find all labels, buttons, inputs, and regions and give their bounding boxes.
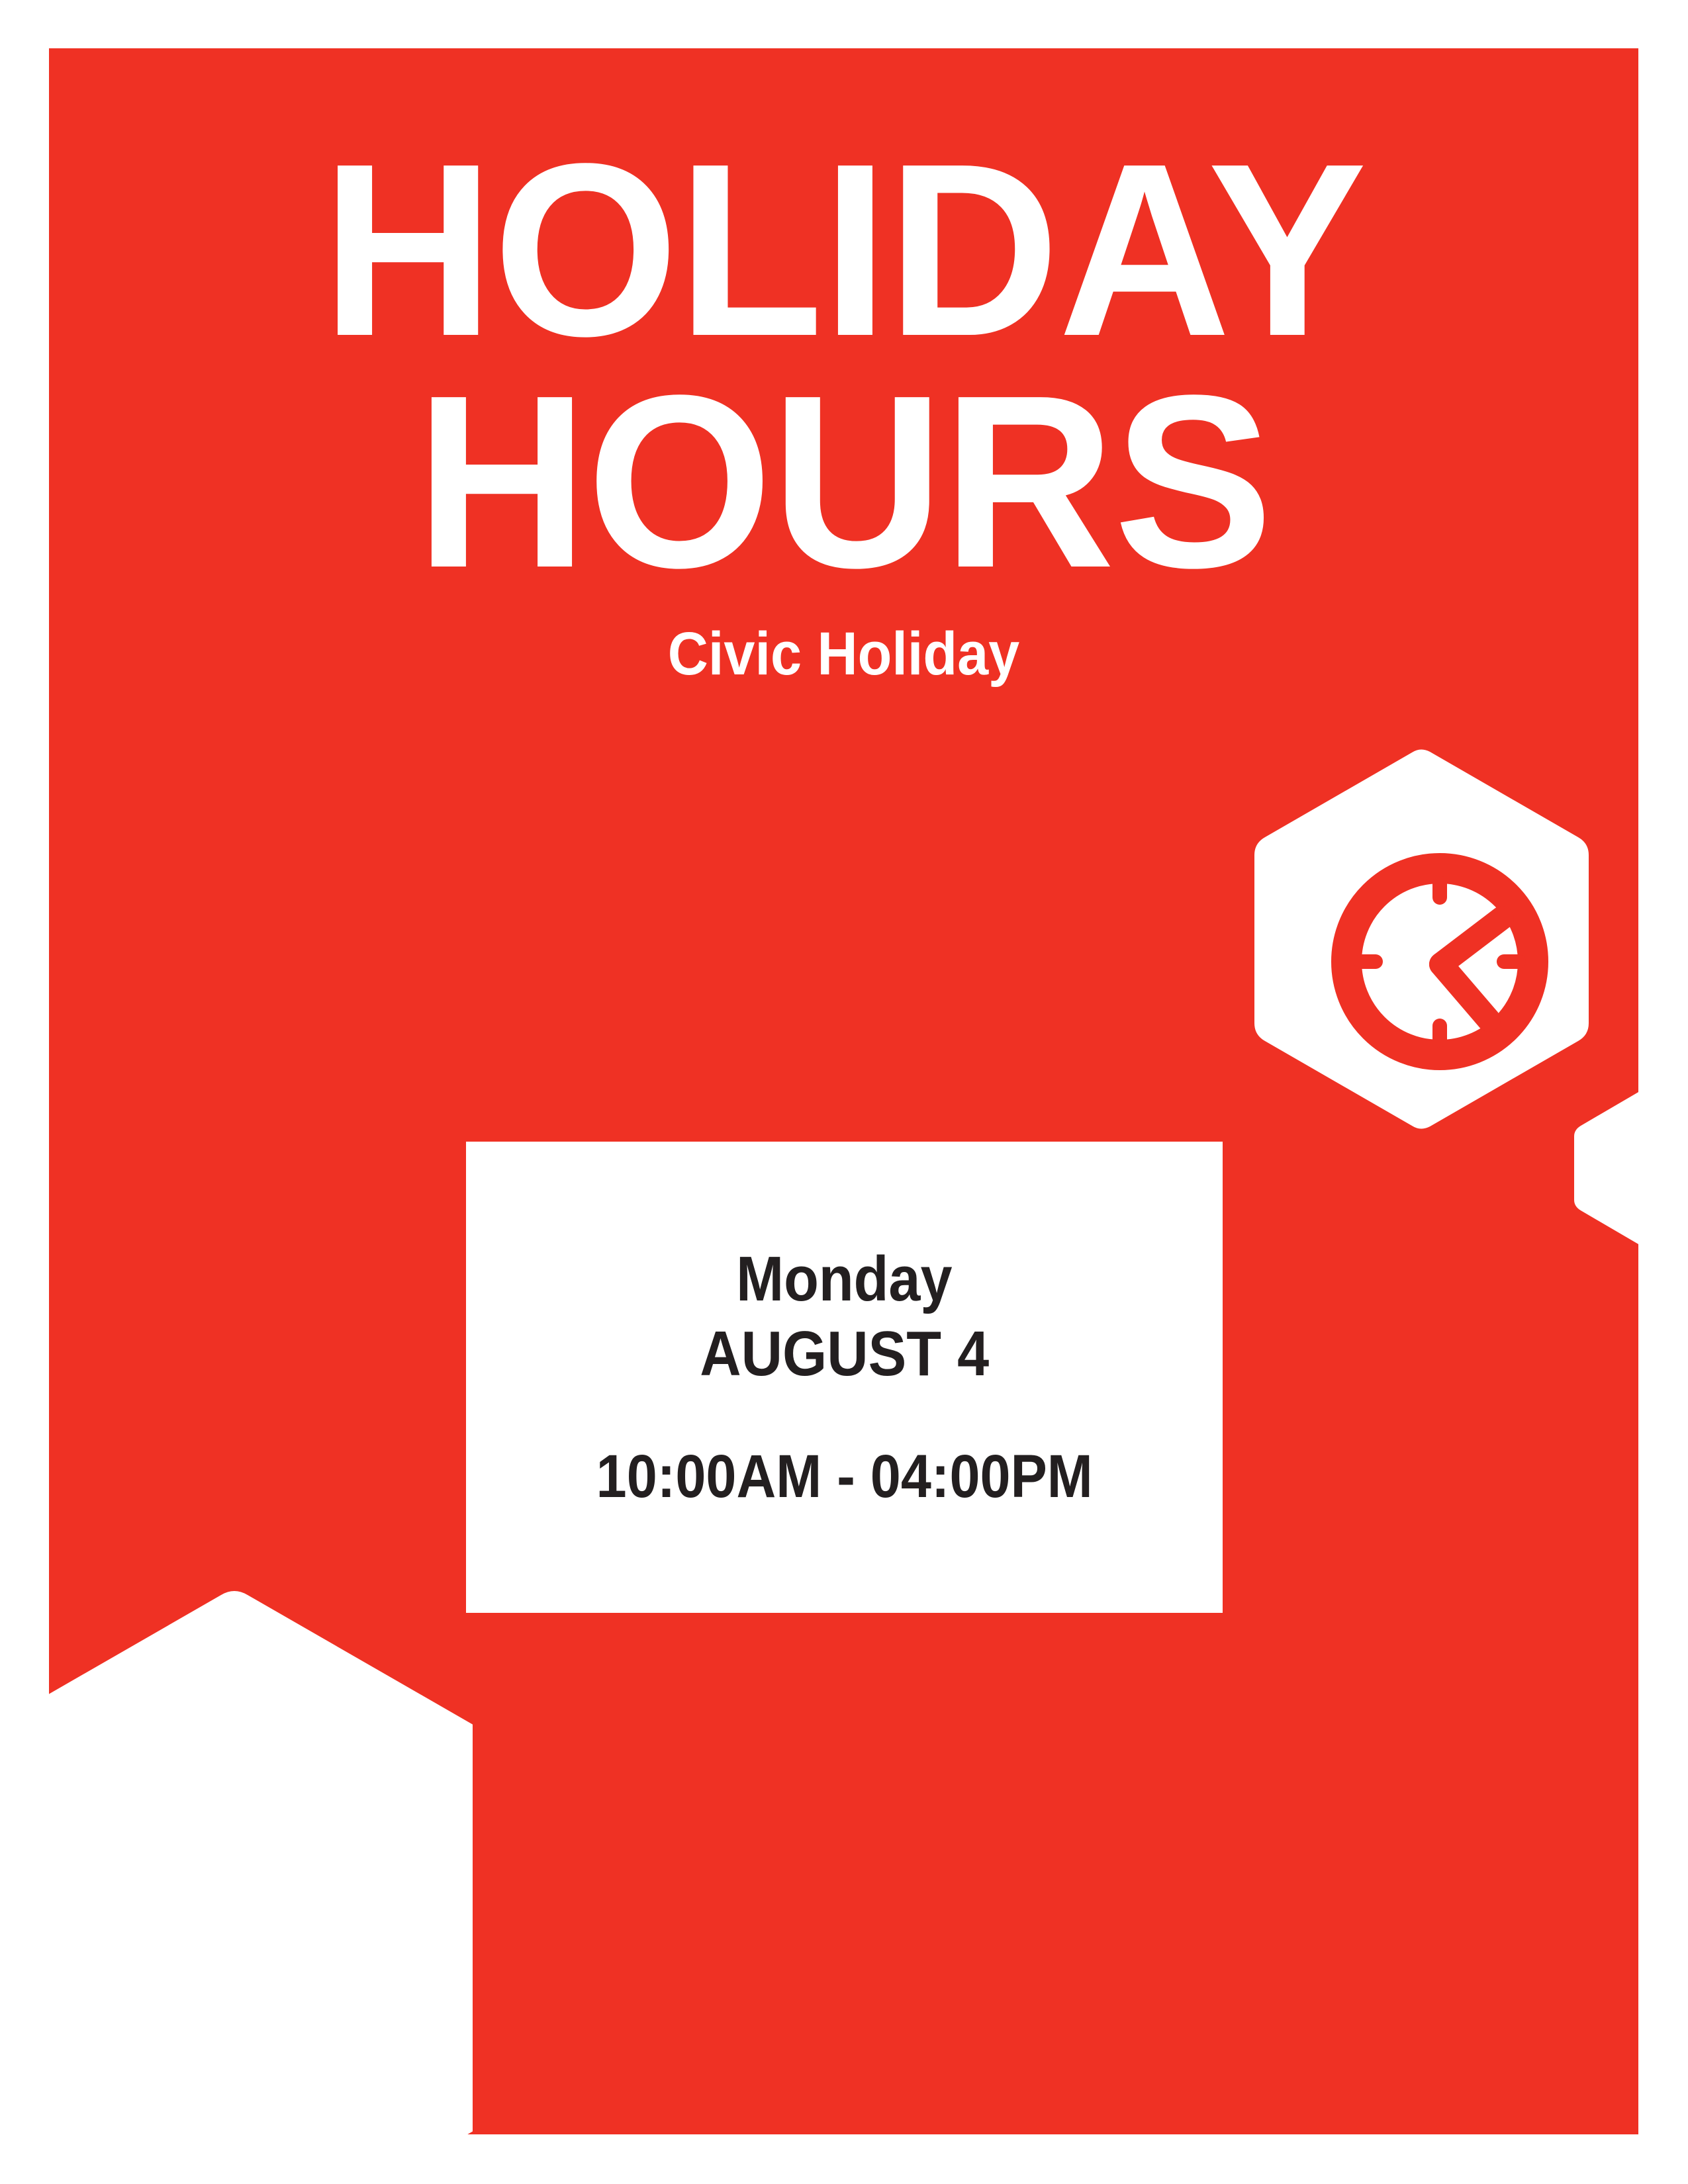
holiday-hours-card-content: Monday AUGUST 4 10:00AM - 04:00PM xyxy=(466,1142,1223,1613)
holiday-hours-card: Monday AUGUST 4 10:00AM - 04:00PM xyxy=(466,1142,1223,1613)
card-day-label: Monday xyxy=(736,1246,952,1313)
poster-subtitle: Civic Holiday xyxy=(113,623,1575,684)
hexagon-accent-right xyxy=(1533,1089,1638,1248)
card-hours-label: 10:00AM - 04:00PM xyxy=(596,1445,1092,1509)
hexagon-shape xyxy=(49,1591,473,2134)
hexagon-accent-bottom-left xyxy=(49,1539,473,2134)
clock-tick-6 xyxy=(1432,1019,1447,1048)
title-block: HOLIDAY HOURS Civic Holiday xyxy=(49,134,1638,684)
card-date-label: AUGUST 4 xyxy=(700,1321,989,1388)
clock-tick-12 xyxy=(1432,876,1447,905)
hexagon-shape xyxy=(1574,1090,1638,1247)
clock-tick-9 xyxy=(1354,954,1383,969)
clock-in-hexagon-icon xyxy=(1254,747,1589,1132)
clock-tick-3 xyxy=(1497,954,1526,969)
page-title-line-1: HOLIDAY xyxy=(73,134,1615,366)
page-title-line-2: HOURS xyxy=(73,366,1615,598)
poster-panel: HOLIDAY HOURS Civic Holiday Monday xyxy=(49,48,1638,2134)
